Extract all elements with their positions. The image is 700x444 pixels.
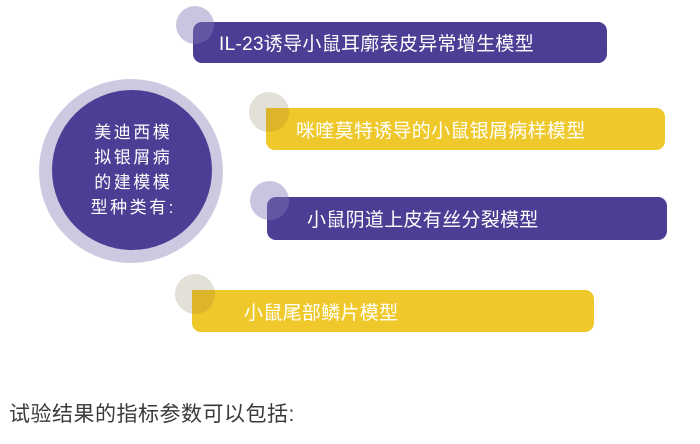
- hub-circle: 美迪西模 拟银屑病 的建模模 型种类有:: [39, 79, 223, 263]
- model-bar-2[interactable]: 咪喹莫特诱导的小鼠银屑病样模型: [266, 108, 665, 150]
- model-bar-4-label: 小鼠尾部鳞片模型: [244, 298, 398, 325]
- model-bar-4[interactable]: 小鼠尾部鳞片模型: [192, 290, 594, 332]
- footer-caption: 试验结果的指标参数可以包括:: [9, 398, 295, 428]
- hub-text: 美迪西模 拟银屑病 的建模模 型种类有:: [52, 90, 212, 250]
- psoriasis-model-infographic: 美迪西模 拟银屑病 的建模模 型种类有: IL-23诱导小鼠耳廓表皮异常增生模型…: [0, 0, 700, 444]
- model-bar-3-label: 小鼠阴道上皮有丝分裂模型: [307, 205, 539, 232]
- model-bar-1[interactable]: IL-23诱导小鼠耳廓表皮异常增生模型: [193, 22, 607, 63]
- hub-text-line-3: 的建模模: [92, 170, 173, 195]
- hub-text-line-2: 拟银屑病: [92, 145, 173, 170]
- model-bar-1-label: IL-23诱导小鼠耳廓表皮异常增生模型: [219, 29, 534, 56]
- hub-text-line-1: 美迪西模: [92, 120, 173, 145]
- model-bar-2-label: 咪喹莫特诱导的小鼠银屑病样模型: [296, 116, 586, 143]
- model-bar-3[interactable]: 小鼠阴道上皮有丝分裂模型: [267, 197, 667, 240]
- hub-text-line-4: 型种类有:: [88, 195, 176, 220]
